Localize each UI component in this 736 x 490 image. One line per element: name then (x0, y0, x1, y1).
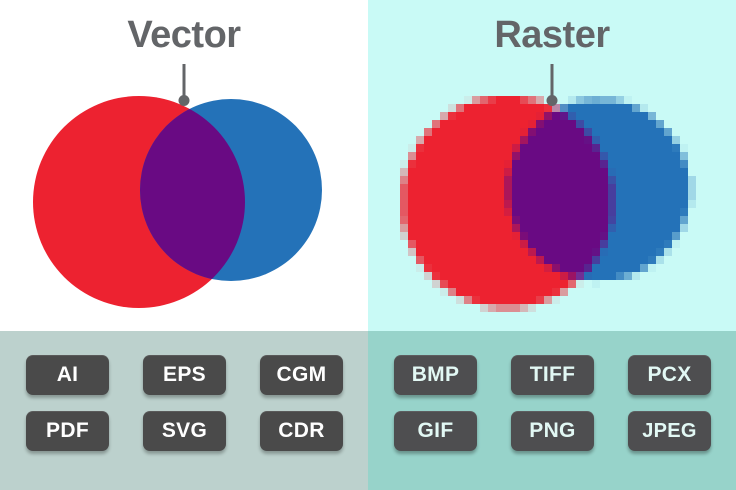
raster-panel-top: Raster (368, 0, 736, 331)
pointer-dot (179, 95, 190, 106)
format-button-cgm[interactable]: CGM (260, 355, 343, 395)
vector-formats-panel: AI EPS CGM PDF SVG CDR (0, 331, 368, 490)
pointer-line (551, 64, 554, 97)
format-button-pcx[interactable]: PCX (628, 355, 711, 395)
format-button-gif[interactable]: GIF (394, 411, 477, 451)
pointer-dot (547, 95, 558, 106)
raster-format-button-grid: BMP TIFF PCX GIF PNG JPEG (394, 355, 711, 451)
vector-panel-top: Vector (0, 0, 368, 331)
format-button-bmp[interactable]: BMP (394, 355, 477, 395)
pointer-line (183, 64, 186, 97)
pointer-line-dot-icon (546, 64, 558, 106)
raster-formats-panel: BMP TIFF PCX GIF PNG JPEG (368, 331, 736, 490)
raster-heading: Raster (368, 16, 736, 54)
format-button-jpeg[interactable]: JPEG (628, 411, 711, 451)
format-button-svg[interactable]: SVG (143, 411, 226, 451)
vector-heading: Vector (0, 16, 368, 54)
pointer-line-dot-icon (178, 64, 190, 106)
format-button-cdr[interactable]: CDR (260, 411, 343, 451)
format-button-png[interactable]: PNG (511, 411, 594, 451)
vector-format-button-grid: AI EPS CGM PDF SVG CDR (26, 355, 343, 451)
format-button-eps[interactable]: EPS (143, 355, 226, 395)
format-button-pdf[interactable]: PDF (26, 411, 109, 451)
format-button-ai[interactable]: AI (26, 355, 109, 395)
vector-vs-raster-infographic: Vector Raster AI EPS CGM PDF SVG CDR BMP… (0, 0, 736, 490)
format-button-tiff[interactable]: TIFF (511, 355, 594, 395)
